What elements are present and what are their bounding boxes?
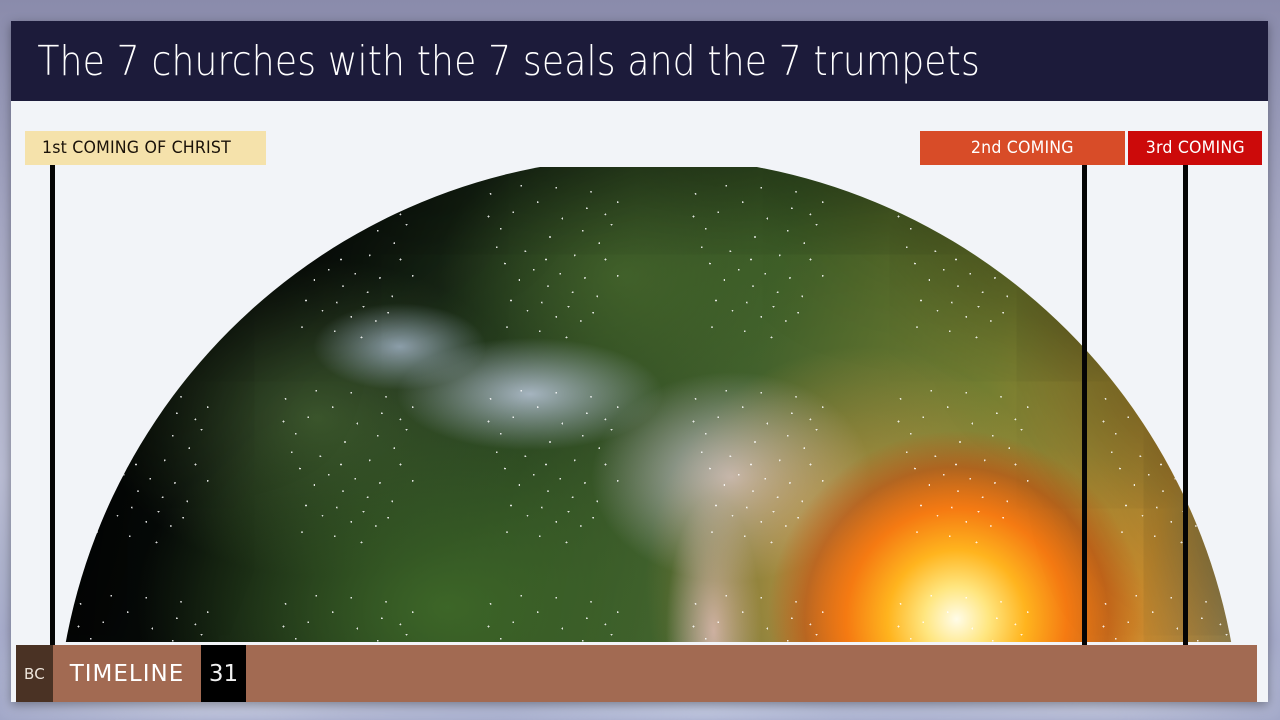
marker-label-third-coming-text: 3rd COMING [1145,138,1244,158]
timeline-bar[interactable]: BC TIMELINE 31 [16,645,1257,702]
earth-globe-image [11,167,1268,642]
slide-body: 1st COMING OF CHRIST 2nd COMING 3rd COMI… [11,101,1268,702]
era-divider-line-first-coming [50,165,55,702]
timeline-year-marker: 31 [201,645,246,702]
timeline-title: TIMELINE [53,661,201,687]
era-divider-line-second-coming [1082,165,1087,702]
page-title: The 7 churches with the 7 seals and the … [11,37,980,85]
star-speckle-overlay [56,167,1241,642]
slide-canvas: The 7 churches with the 7 seals and the … [11,21,1268,702]
globe-sphere [56,167,1241,642]
slide-title-bar: The 7 churches with the 7 seals and the … [11,21,1268,101]
marker-label-second-coming[interactable]: 2nd COMING [920,131,1125,165]
timeline-bc-segment: BC [16,645,53,702]
timeline-track [246,645,1257,702]
marker-label-third-coming[interactable]: 3rd COMING [1128,131,1262,165]
marker-label-first-coming-text: 1st COMING OF CHRIST [42,138,231,158]
marker-label-first-coming[interactable]: 1st COMING OF CHRIST [25,131,266,165]
era-divider-line-third-coming [1183,165,1188,702]
marker-label-second-coming-text: 2nd COMING [971,138,1074,158]
